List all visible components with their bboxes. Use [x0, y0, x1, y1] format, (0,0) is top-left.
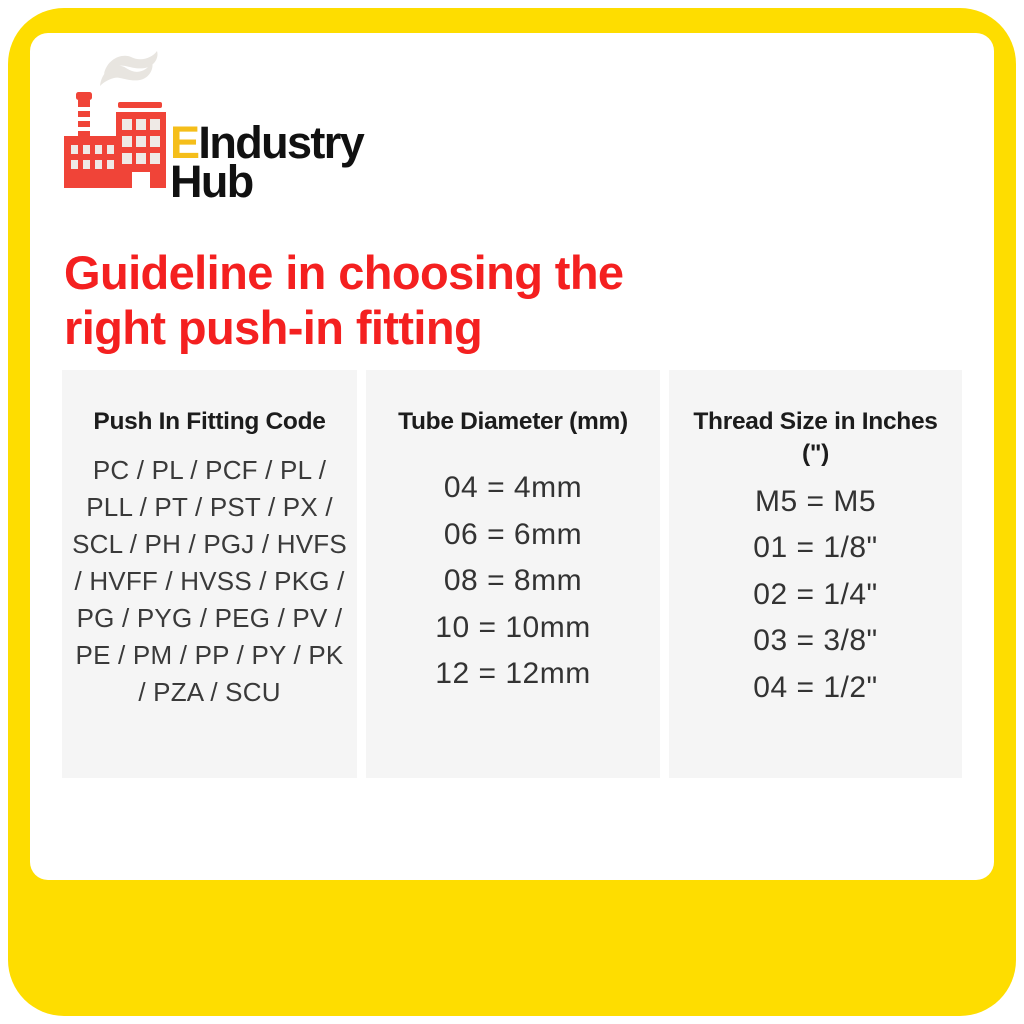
list-item: 10 = 10mm [376, 605, 650, 652]
brand-logo[interactable]: EIndustry Hub [62, 50, 412, 200]
column-body: 04 = 4mm 06 = 6mm 08 = 8mm 10 = 10mm 12 … [376, 465, 650, 698]
page-title-line-2: right push-in fitting [64, 301, 482, 354]
list-item: PC / PL / PCF / PL / PLL / PT / PST / PX… [72, 452, 347, 710]
content-card: EIndustry Hub Guideline in choosing the … [30, 33, 994, 880]
table-column-tube-diameter: Tube Diameter (mm) 04 = 4mm 06 = 6mm 08 … [366, 370, 660, 778]
list-item: 08 = 8mm [376, 558, 650, 605]
column-header: Thread Size in Inches (") [679, 406, 952, 471]
table-column-push-in-fitting-code: Push In Fitting Code PC / PL / PCF / PL … [62, 370, 357, 778]
page-title-line-1: Guideline in choosing the [64, 246, 623, 299]
list-item: 04 = 4mm [376, 465, 650, 512]
table-column-thread-size: Thread Size in Inches (") M5 = M5 01 = 1… [669, 370, 962, 778]
column-header: Tube Diameter (mm) [376, 406, 650, 438]
column-body: PC / PL / PCF / PL / PLL / PT / PST / PX… [72, 452, 347, 710]
logo-word-hub: Hub [170, 163, 420, 202]
list-item: 03 = 3/8" [679, 618, 952, 665]
list-item: M5 = M5 [679, 479, 952, 526]
page-title: Guideline in choosing the right push-in … [64, 245, 744, 356]
column-body: M5 = M5 01 = 1/8" 02 = 1/4" 03 = 3/8" 04… [679, 479, 952, 712]
fitting-guide-table: Push In Fitting Code PC / PL / PCF / PL … [62, 370, 962, 778]
list-item: 02 = 1/4" [679, 572, 952, 619]
list-item: 01 = 1/8" [679, 525, 952, 572]
logo-wordmark: EIndustry Hub [170, 124, 420, 216]
list-item: 06 = 6mm [376, 512, 650, 559]
list-item: 12 = 12mm [376, 651, 650, 698]
list-item: 04 = 1/2" [679, 665, 952, 712]
column-header: Push In Fitting Code [72, 406, 347, 438]
